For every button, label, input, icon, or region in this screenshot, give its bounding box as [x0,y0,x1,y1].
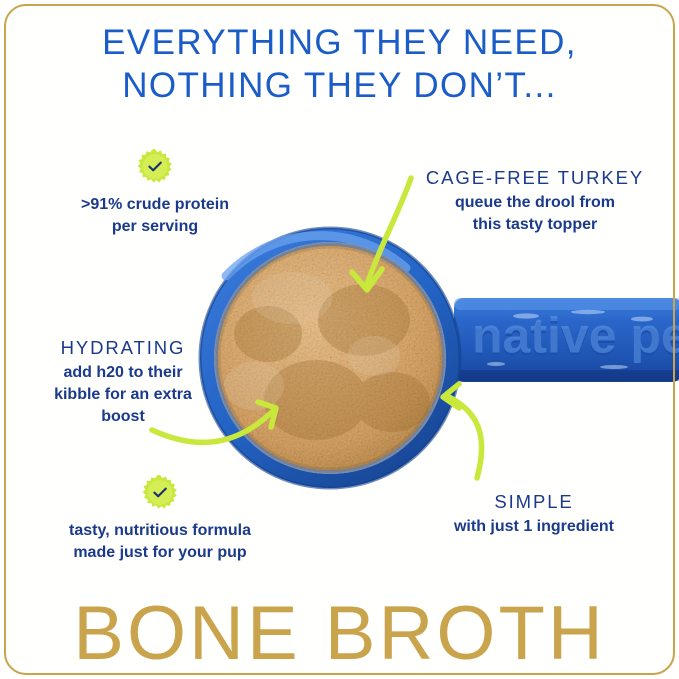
callout-body: add h20 to their kibble for an extra boo… [8,362,238,428]
callout-hydrating: HYDRATING add h20 to their kibble for an… [8,336,238,428]
callout-cage-free-turkey: CAGE-FREE TURKEY queue the drool from th… [404,166,666,236]
callout-body-line-1: tasty, nutritious formula [22,520,298,542]
product-photo-scoop: native pe native pe [196,224,679,492]
callout-body-line-2: this tasty topper [404,214,666,236]
callout-body-line-1: >91% crude protein [24,194,286,216]
callout-body: with just 1 ingredient [412,516,656,538]
callout-body-line-2: made just for your pup [22,542,298,564]
callout-tasty-formula: tasty, nutritious formula made just for … [22,474,298,564]
callout-body-line-3: boost [8,406,238,428]
callout-heading: CAGE-FREE TURKEY [404,166,666,190]
handle-embossed-text: native pe native pe [472,308,679,367]
callout-body-line-1: queue the drool from [404,192,666,214]
callout-heading: HYDRATING [8,336,238,360]
scoop-handle: native pe native pe [454,298,679,382]
product-wordmark: BONE BROTH [0,596,679,672]
callout-body: queue the drool from this tasty topper [404,192,666,236]
infographic-canvas: native pe native pe [0,0,679,679]
callout-simple: SIMPLE with just 1 ingredient [412,490,656,538]
callout-body-line-1: add h20 to their [8,362,238,384]
callout-body-line-1: with just 1 ingredient [412,516,656,538]
callout-body-line-2: per serving [24,216,286,238]
svg-text:native pe: native pe [472,308,679,364]
headline-line-2: NOTHING THEY DON’T... [0,65,679,108]
check-badge-icon [136,148,174,186]
callout-heading: SIMPLE [412,490,656,514]
check-badge-icon [141,474,179,512]
callout-body: tasty, nutritious formula made just for … [22,520,298,564]
headline-line-1: EVERYTHING THEY NEED, [102,23,577,62]
callout-crude-protein: >91% crude protein per serving [24,148,286,238]
callout-body: >91% crude protein per serving [24,194,286,238]
page-headline: EVERYTHING THEY NEED, NOTHING THEY DON’T… [0,22,679,107]
callout-body-line-2: kibble for an extra [8,384,238,406]
scoop-bowl [200,228,460,488]
